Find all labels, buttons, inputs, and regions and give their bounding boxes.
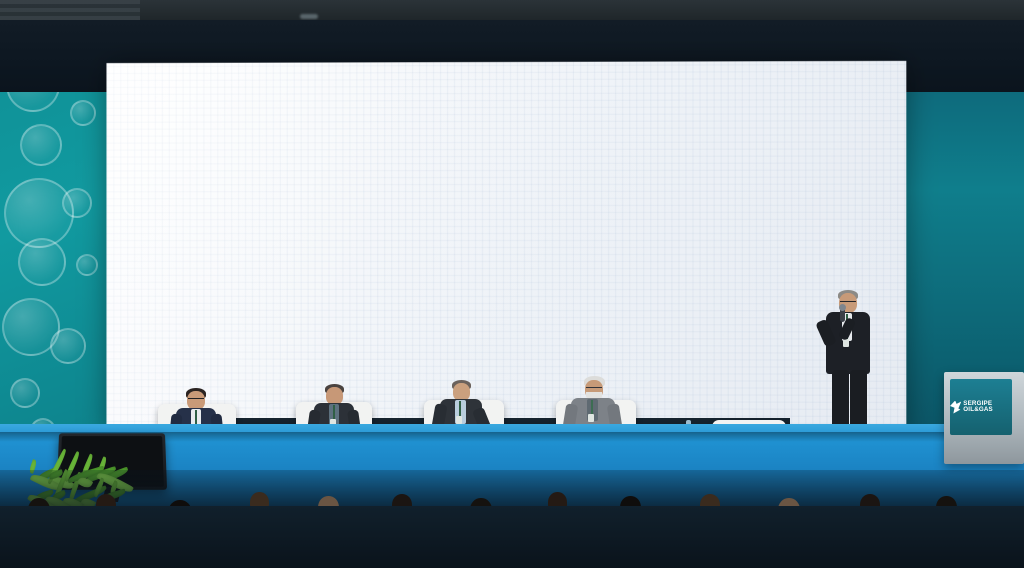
- microphone-head: [839, 304, 846, 311]
- presentation-slide: Operational Sequence & Results D O M E O…: [106, 61, 906, 438]
- col-planned-time: Planned Time (h): [661, 264, 741, 280]
- standing-speaker: [820, 290, 882, 440]
- bubble-decoration: [18, 238, 66, 286]
- cell-trip: 4: [638, 330, 661, 347]
- cell-trip: 5: [638, 347, 661, 364]
- cell-trip: 2: [638, 297, 661, 314]
- slide-photo-aerial-port: [132, 128, 352, 256]
- bubble-decoration: [70, 100, 96, 126]
- cell-planned: 63,4: [661, 280, 741, 297]
- dome-arc-icon: [751, 67, 773, 79]
- cell-real: 14,1: [741, 296, 805, 313]
- cell-trip: 3: [638, 314, 661, 331]
- title-divider: [142, 114, 700, 116]
- logo-letter-d: D: [725, 75, 749, 106]
- slide-photo-quay-workers: [360, 128, 576, 256]
- podium-branding: SERGIPE OIL&GAS: [950, 379, 1012, 435]
- podium-brand-text: SERGIPE OIL&GAS: [963, 401, 1012, 414]
- dome-logo: D O M E ORAMSERVICES - FRUMO LOGÍSTICA: [725, 75, 858, 118]
- cell-real: 30,6: [740, 279, 804, 296]
- cell-trip: 6: [639, 364, 662, 381]
- cell-real: 16,1: [741, 312, 805, 329]
- slide-photo-excavators-cables: [584, 123, 807, 256]
- podium: SERGIPE OIL&GAS: [944, 372, 1024, 464]
- ceiling-light: [300, 14, 318, 19]
- conference-scene: Operational Sequence & Results D O M E O…: [0, 0, 1024, 568]
- cell-planned: 33: [661, 313, 741, 330]
- dome-logo-wordmark: D O M E: [725, 75, 858, 106]
- col-trip: Trip: [638, 265, 661, 281]
- bubble-decoration: [76, 254, 98, 276]
- cell-real: 25: [741, 362, 805, 379]
- logo-letter-e: E: [802, 75, 824, 106]
- bubble-decoration: [20, 124, 62, 166]
- cell-planned: 45: [662, 346, 742, 363]
- cell-planned: 45: [662, 363, 742, 380]
- logo-letter-m: M: [775, 75, 802, 106]
- projection-screen: Operational Sequence & Results D O M E O…: [106, 61, 906, 438]
- col-difference: Difference (h): [804, 263, 870, 279]
- floor: [0, 506, 1024, 568]
- speaker-badge: [843, 339, 849, 347]
- page-title: Operational Sequence & Results: [142, 85, 412, 108]
- callout-box: Efficiency, process optimization and lea…: [398, 319, 626, 371]
- col-real-time: Real Time (h): [740, 264, 804, 280]
- bubble-decoration: [10, 378, 40, 408]
- cell-real: 26: [741, 329, 805, 346]
- cell-planned: 49,1: [661, 296, 741, 313]
- total-saved-time-label: TOTAL SAVED TIME: [662, 379, 805, 397]
- dome-logo-tagline: ORAMSERVICES - FRUMO LOGÍSTICA: [725, 111, 858, 118]
- bubble-decoration: [50, 328, 86, 364]
- cell-trip: 1: [638, 281, 661, 298]
- slide-photo-cable-layout: [132, 266, 382, 386]
- cell-real: 42: [741, 346, 805, 363]
- logo-letter-o: O: [749, 75, 775, 106]
- sergipe-logo-icon: [950, 401, 961, 414]
- cell-planned: 28: [661, 330, 741, 347]
- bubble-decoration: [62, 188, 92, 218]
